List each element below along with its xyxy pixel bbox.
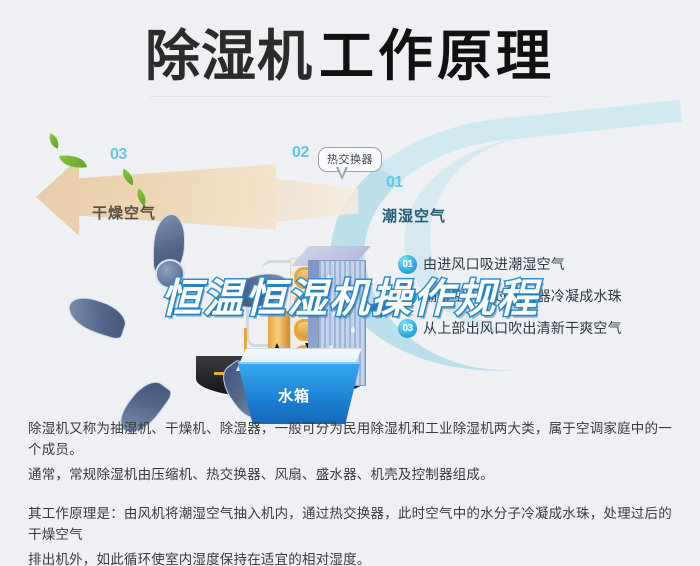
step-description: 潮湿空气经过蒸发器冷凝成水珠 bbox=[423, 287, 622, 306]
paragraph-4: 排出机外，如此循环使室内湿度保持在适宜的相对湿度。 bbox=[28, 549, 674, 566]
leaf-icon bbox=[46, 133, 61, 148]
step-number-badge: 01 bbox=[398, 255, 417, 274]
step-description: 由进风口吸进潮湿空气 bbox=[423, 255, 565, 274]
diagram-marker-03: 03 bbox=[110, 146, 127, 164]
title-part-primary: 除湿机 bbox=[145, 25, 313, 87]
dehumidifier-diagram: 干燥空气 潮湿空气 03 02 01 热交换器 bbox=[0, 110, 700, 395]
callout-pointer-icon bbox=[336, 167, 348, 180]
process-step-list: 01 由进风口吸进潮湿空气 02 潮湿空气经过蒸发器冷凝成水珠 03 从上部出风… bbox=[398, 255, 688, 351]
dry-air-arrow bbox=[36, 158, 276, 236]
infographic-page: 除湿机工作原理 干燥空气 潮湿空气 03 02 01 热交换器 bbox=[0, 0, 700, 566]
title-part-secondary: 工作原理 bbox=[319, 25, 555, 87]
list-item: 03 从上部出风口吹出清新干爽空气 bbox=[398, 319, 688, 338]
paragraph-2: 通常，常规除湿机由压缩机、热交换器、风扇、盛水器、机壳及控制器组成。 bbox=[28, 464, 674, 485]
humid-air-label: 潮湿空气 bbox=[382, 205, 446, 226]
step-number-badge: 03 bbox=[398, 319, 417, 338]
fan-hub bbox=[155, 259, 185, 289]
step-description: 从上部出风口吹出清新干爽空气 bbox=[423, 319, 622, 338]
air-inlet-arrow-icon bbox=[366, 298, 382, 318]
air-inlet-arrow-tail bbox=[382, 304, 398, 312]
diagram-marker-01: 01 bbox=[386, 174, 403, 192]
paragraph-3: 其工作原理是：由风机将潮湿空气抽入机内，通过热交换器，此时空气中的水分子冷凝成水… bbox=[28, 503, 674, 545]
step-number-badge: 02 bbox=[398, 287, 417, 306]
diagram-marker-02: 02 bbox=[292, 144, 309, 162]
water-tank-label: 水箱 bbox=[278, 385, 310, 406]
dry-air-label: 干燥空气 bbox=[92, 202, 156, 223]
title-divider bbox=[150, 96, 550, 97]
paragraph-1: 除湿机又称为抽湿机、干燥机、除湿器，一般可分为民用除湿机和工业除湿机两大类，属于… bbox=[28, 418, 674, 460]
body-copy: 除湿机又称为抽湿机、干燥机、除湿器，一般可分为民用除湿机和工业除湿机两大类，属于… bbox=[28, 418, 674, 566]
heat-exchanger-callout: 热交换器 bbox=[318, 147, 382, 172]
paragraph-spacer bbox=[28, 489, 674, 503]
list-item: 02 潮湿空气经过蒸发器冷凝成水珠 bbox=[398, 287, 688, 306]
page-title: 除湿机工作原理 bbox=[0, 26, 700, 86]
list-item: 01 由进风口吸进潮湿空气 bbox=[398, 255, 688, 274]
